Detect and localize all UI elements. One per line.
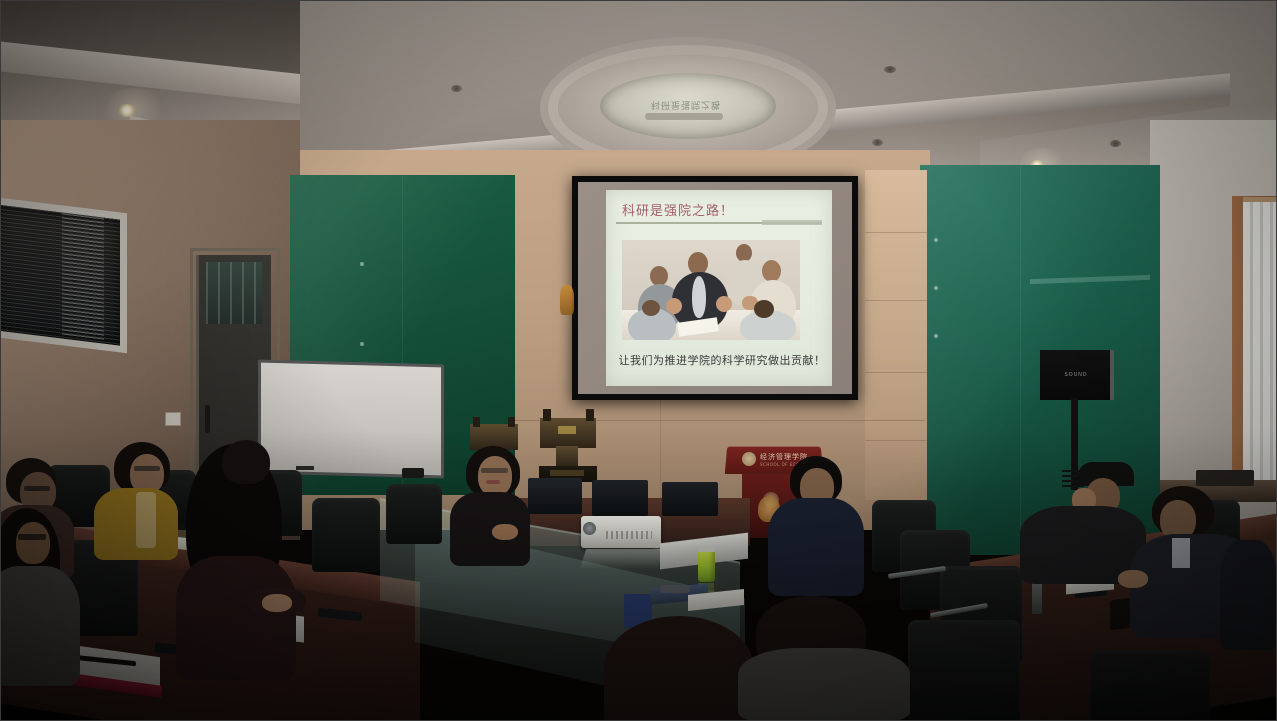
window-blinds-left-highlight [62,209,104,340]
spotlight-1 [118,104,136,117]
attendee-left-4-hand [262,594,292,612]
slide-photo [622,240,800,340]
screenshot-root: 科研是强院之路 [0,0,1277,721]
slide-person-6-head [754,300,774,318]
door-left-window-bars [206,262,262,324]
slide-caption: 让我们为推进学院的科学研究做出贡献！ [612,352,832,368]
presenter-hand [492,524,518,540]
whiteboard[interactable] [261,363,441,476]
chair-right-4[interactable] [908,620,1020,721]
panel-stud-2 [360,342,364,346]
attendee-left-4-torso [176,556,296,680]
beverage-can-lid [698,547,715,552]
slide-person-5-head [642,300,660,316]
attendee-left-1-glasses-icon [24,486,50,491]
panel-stud-4 [934,286,938,290]
attendee-center-right-torso [768,498,864,596]
attendee-right-2-shirt [1172,538,1190,568]
ceiling-vent-2 [872,139,883,146]
attendee-right-2-hand [1118,570,1148,588]
ceiling-vent-3 [1110,140,1121,147]
attendee-foreground-1-hair [604,616,754,721]
panel-stud-3 [934,238,938,242]
slide-divider-highlight [762,220,822,225]
attendee-right-3-torso [1220,540,1277,650]
trophy-vessel-1-handle-left [473,417,480,427]
wall-ornament [560,285,574,315]
presenter-smile [486,480,500,484]
panel-stud-1 [360,262,364,266]
beverage-can[interactable] [698,548,715,582]
attendee-left-3-coat [0,566,80,686]
window-right-vertical-blinds[interactable] [1243,200,1277,492]
object-on-sill [1196,470,1254,486]
attendee-left-2-scarf [136,492,156,548]
loudspeaker-label: SOUND [1063,372,1089,378]
trophy-vessel-2-stem [556,446,578,468]
presenter-torso [450,492,530,566]
chair-left-5[interactable] [386,484,442,544]
trophy-vessel-2-handle-right [586,409,594,421]
monitor-3 [662,482,718,516]
presenter-glasses-icon [481,468,508,473]
projector-reflection [580,549,664,569]
whiteboard-eraser[interactable] [402,468,424,478]
slide-title: 科研是强院之路！ [622,200,822,219]
trophy-vessel-2-plaque [550,470,584,476]
presenter-face [478,456,512,496]
medallion-light-bar [645,113,723,120]
attendee-left-2-glasses-icon [134,466,160,471]
monitor-2 [592,480,648,516]
school-emblem-icon [742,452,756,466]
monitor-1 [528,478,582,514]
remote-control[interactable] [660,585,690,593]
pilaster-seam-2 [865,300,927,301]
trophy-vessel-1-handle-right [508,417,515,427]
slide-person-2-shirt [692,276,706,318]
slide-person-2-hand-left [666,298,682,314]
slide-person-4-head [762,260,781,282]
projector-vent [606,531,652,539]
attendee-left-5-hair [222,440,270,484]
door-handle-icon[interactable] [205,405,210,433]
panel-stud-5 [934,334,938,338]
trophy-vessel-2-inscription [558,426,576,434]
pilaster-seam-3 [865,372,927,373]
whiteboard-marker[interactable] [296,466,314,470]
attendee-foreground-2-hoodie [738,648,910,721]
attendee-left-3-face [16,522,50,564]
ceiling-vent-1 [884,66,896,73]
wall-pilaster [865,170,927,500]
light-switch[interactable] [165,412,181,426]
ceiling-vent-4 [451,85,462,92]
slide-person-1-head [650,266,668,286]
projector-lens-icon [583,522,596,535]
blind-track [1243,197,1277,202]
pilaster-seam-4 [865,440,927,441]
chair-left-4[interactable] [312,498,380,572]
pilaster-seam-1 [865,232,927,233]
trophy-vessel-2-handle-left [543,409,551,421]
green-panel-seam-2 [1020,165,1021,555]
attendee-left-3-glasses-icon [18,534,46,540]
medallion-reflection-text: 科研是强院之路 [626,96,746,112]
chair-right-5[interactable] [1090,650,1210,721]
